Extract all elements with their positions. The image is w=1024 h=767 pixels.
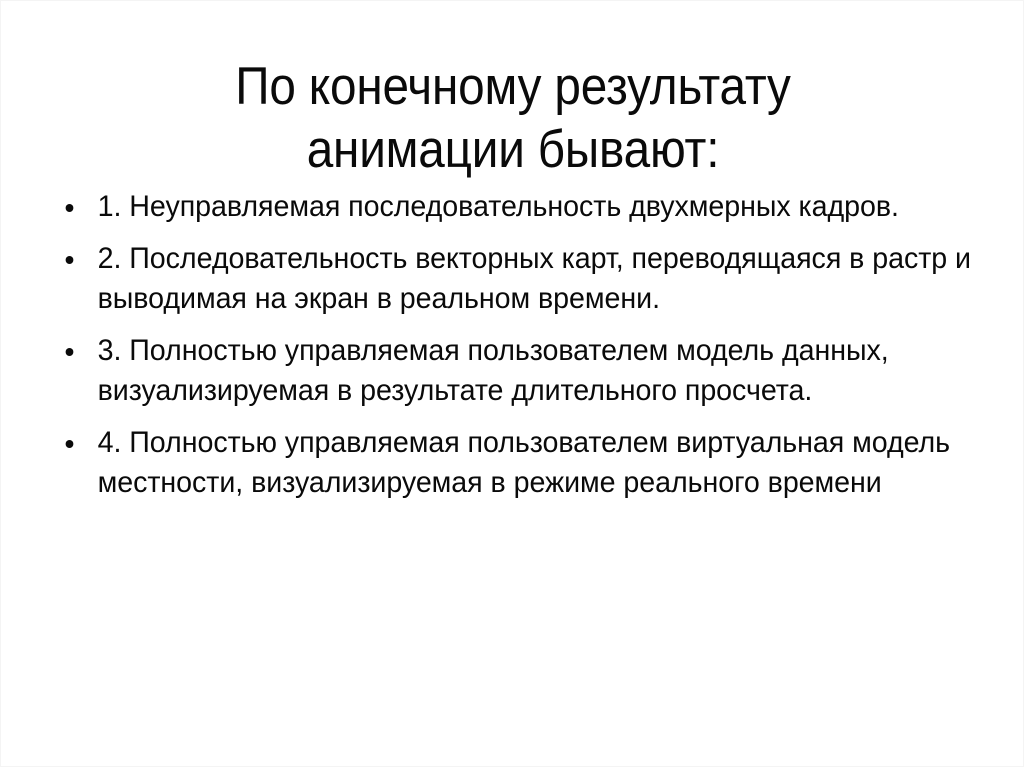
- presentation-slide: По конечному результату анимации бывают:…: [0, 0, 1024, 767]
- list-item: 4. Полностью управляемая пользователем в…: [53, 423, 975, 503]
- bullet-point-icon: [66, 348, 74, 356]
- list-item-text: 3. Полностью управляемая пользователем м…: [98, 331, 975, 411]
- slide-title: По конечному результату анимации бывают:: [106, 55, 920, 181]
- list-item-text: 4. Полностью управляемая пользователем в…: [98, 423, 975, 503]
- bullet-point-icon: [66, 256, 74, 264]
- list-item: 3. Полностью управляемая пользователем м…: [53, 331, 975, 411]
- bullet-point-icon: [66, 204, 74, 212]
- list-item: 1. Неуправляемая последовательность двух…: [53, 187, 975, 227]
- list-item-text: 2. Последовательность векторных карт, пе…: [98, 239, 975, 319]
- slide-bullet-list: 1. Неуправляемая последовательность двух…: [53, 187, 1003, 503]
- bullet-point-icon: [66, 440, 74, 448]
- list-item: 2. Последовательность векторных карт, пе…: [53, 239, 975, 319]
- list-item-text: 1. Неуправляемая последовательность двух…: [98, 187, 975, 227]
